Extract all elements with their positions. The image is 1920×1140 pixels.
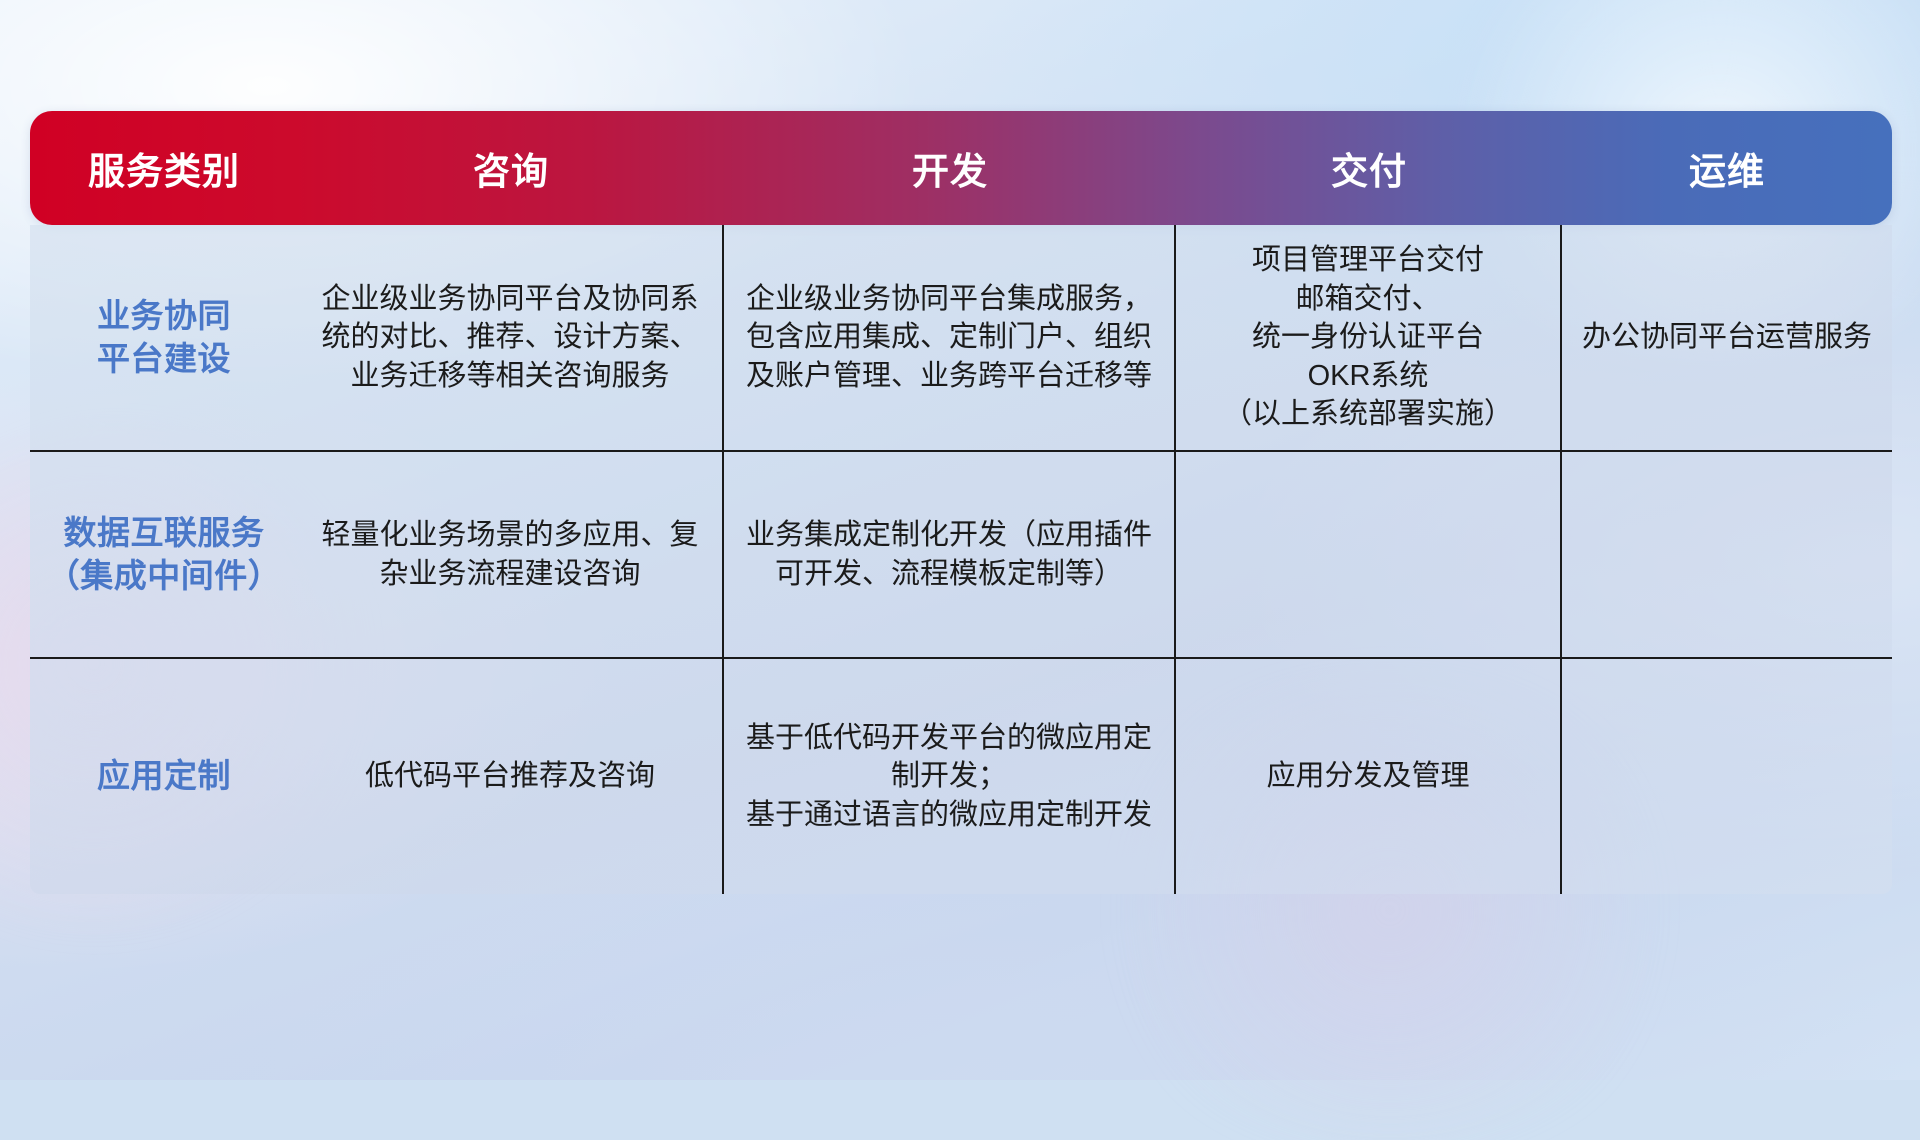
column-header-development: 开发 (724, 111, 1176, 225)
cell-development-row2: 业务集成定制化开发（应用插件可开发、流程模板定制等） (724, 452, 1176, 657)
table-body: 业务协同 平台建设 企业级业务协同平台及协同系统的对比、推荐、设计方案、业务迁移… (30, 225, 1892, 894)
cell-consulting-row3: 低代码平台推荐及咨询 (298, 659, 724, 894)
column-header-delivery: 交付 (1176, 111, 1562, 225)
cell-development-row3: 基于低代码开发平台的微应用定制开发； 基于通过语言的微应用定制开发 (724, 659, 1176, 894)
table-row: 应用定制 低代码平台推荐及咨询 基于低代码开发平台的微应用定制开发； 基于通过语… (30, 659, 1892, 894)
table-header-row: 服务类别 咨询 开发 交付 运维 (30, 111, 1892, 225)
row-label-data-interconnect: 数据互联服务 （集成中间件） (30, 452, 298, 657)
cell-delivery-row2 (1176, 452, 1562, 657)
column-header-category: 服务类别 (30, 111, 298, 225)
service-matrix-table: 服务类别 咨询 开发 交付 运维 业务协同 平台建设 企业级业务协同平台及协同系… (30, 111, 1892, 894)
cell-operations-row3 (1562, 659, 1892, 894)
column-header-consulting: 咨询 (298, 111, 724, 225)
cell-delivery-row3: 应用分发及管理 (1176, 659, 1562, 894)
cell-delivery-row1: 项目管理平台交付 邮箱交付、 统一身份认证平台 OKR系统 （以上系统部署实施） (1176, 225, 1562, 450)
row-label-business-collaboration: 业务协同 平台建设 (30, 225, 298, 450)
row-label-app-customization: 应用定制 (30, 659, 298, 894)
cell-consulting-row1: 企业级业务协同平台及协同系统的对比、推荐、设计方案、业务迁移等相关咨询服务 (298, 225, 724, 450)
cell-operations-row2 (1562, 452, 1892, 657)
cell-consulting-row2: 轻量化业务场景的多应用、复杂业务流程建设咨询 (298, 452, 724, 657)
cell-development-row1: 企业级业务协同平台集成服务，包含应用集成、定制门户、组织及账户管理、业务跨平台迁… (724, 225, 1176, 450)
cell-operations-row1: 办公协同平台运营服务 (1562, 225, 1892, 450)
table-row: 数据互联服务 （集成中间件） 轻量化业务场景的多应用、复杂业务流程建设咨询 业务… (30, 452, 1892, 659)
column-header-operations: 运维 (1562, 111, 1892, 225)
table-row: 业务协同 平台建设 企业级业务协同平台及协同系统的对比、推荐、设计方案、业务迁移… (30, 225, 1892, 452)
